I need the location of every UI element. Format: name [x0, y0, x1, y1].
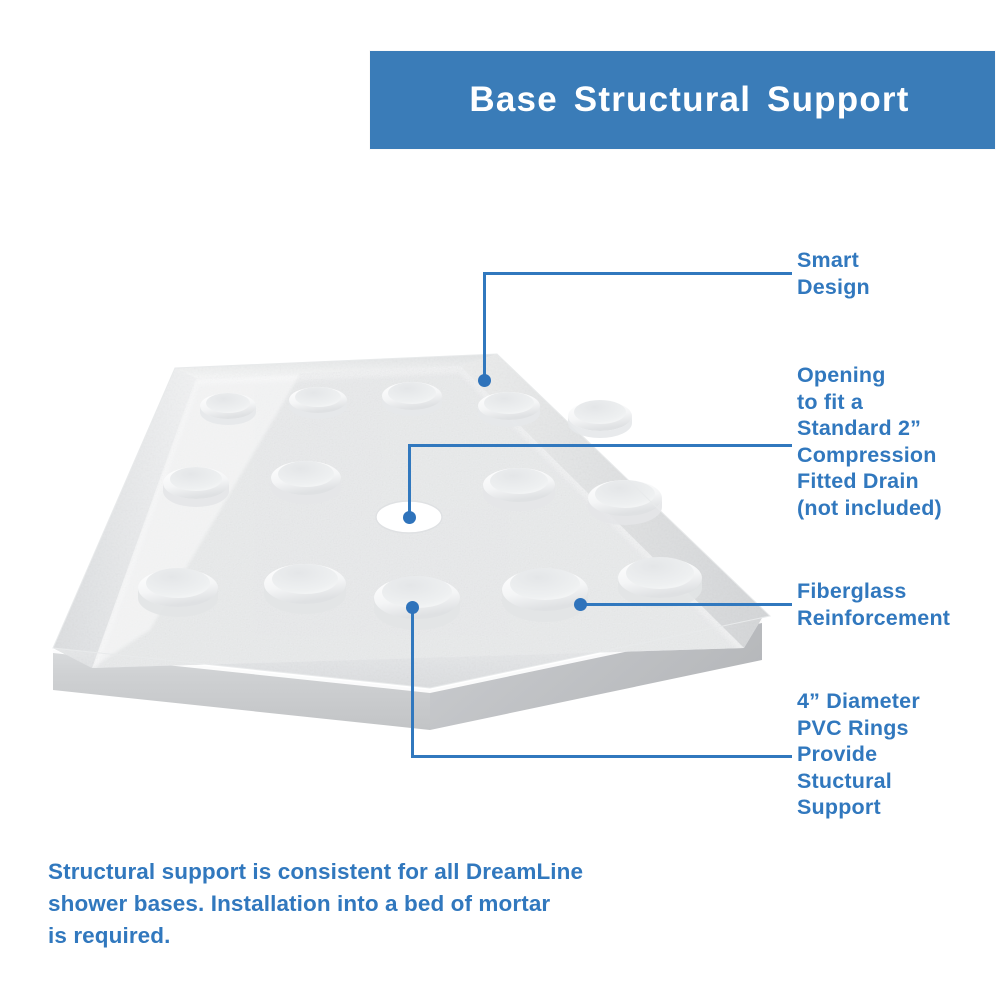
- callout-line: Stuctural: [797, 768, 997, 795]
- page-title: Base Structural Support: [370, 80, 995, 120]
- footer-line: shower bases. Installation into a bed of…: [48, 888, 688, 920]
- pvc-ring: [138, 568, 218, 617]
- product-illustration: [0, 330, 800, 730]
- footer-line: is required.: [48, 920, 688, 952]
- pvc-ring: [478, 392, 540, 427]
- leader-line-pvc-rings: [411, 755, 792, 758]
- callout-line: Fitted Drain: [797, 468, 997, 495]
- pvc-ring: [483, 468, 555, 511]
- callout-line: (not included): [797, 495, 997, 522]
- leader-line-fiberglass: [580, 603, 792, 606]
- pvc-ring: [588, 480, 662, 525]
- callout-line: 4” Diameter: [797, 688, 997, 715]
- callout-line: Support: [797, 794, 997, 821]
- leader-line-pvc-rings-stem: [411, 607, 414, 758]
- leader-line-smart-design-stem: [483, 272, 486, 380]
- callout-opening-drain: Opening to fit a Standard 2” Compression…: [797, 362, 997, 521]
- leader-dot-smart-design: [478, 374, 491, 387]
- leader-line-opening: [408, 444, 792, 447]
- pvc-ring: [200, 393, 256, 425]
- callout-line: Standard 2”: [797, 415, 997, 442]
- header-bar: Base Structural Support: [370, 51, 995, 149]
- callout-fiberglass-reinforcement: Fiberglass Reinforcement: [797, 578, 997, 631]
- callout-smart-design: Smart Design: [797, 247, 997, 300]
- pvc-ring: [618, 557, 702, 608]
- callout-line: Smart: [797, 247, 997, 274]
- pvc-ring: [271, 461, 341, 504]
- callout-line: PVC Rings: [797, 715, 997, 742]
- callout-line: Reinforcement: [797, 605, 997, 632]
- pvc-ring: [163, 467, 229, 507]
- leader-dot-opening: [403, 511, 416, 524]
- leader-line-smart-design: [483, 272, 792, 275]
- footer-note: Structural support is consistent for all…: [48, 856, 688, 952]
- footer-line: Structural support is consistent for all…: [48, 856, 688, 888]
- leader-dot-fiberglass: [574, 598, 587, 611]
- leader-line-opening-stem: [408, 444, 411, 518]
- callout-line: Opening: [797, 362, 997, 389]
- leader-dot-pvc-rings: [406, 601, 419, 614]
- callout-line: Provide: [797, 741, 997, 768]
- shower-base-svg: [0, 330, 800, 730]
- pvc-ring: [568, 400, 632, 438]
- callout-line: Compression: [797, 442, 997, 469]
- callout-line: to fit a: [797, 389, 997, 416]
- pvc-ring: [289, 387, 347, 419]
- pvc-ring: [382, 382, 442, 416]
- pvc-ring: [502, 568, 588, 622]
- callout-line: Fiberglass: [797, 578, 997, 605]
- callout-line: Design: [797, 274, 997, 301]
- pvc-ring: [264, 564, 346, 614]
- callout-pvc-rings: 4” Diameter PVC Rings Provide Stuctural …: [797, 688, 997, 821]
- infographic-page: Base Structural Support: [0, 0, 1000, 1000]
